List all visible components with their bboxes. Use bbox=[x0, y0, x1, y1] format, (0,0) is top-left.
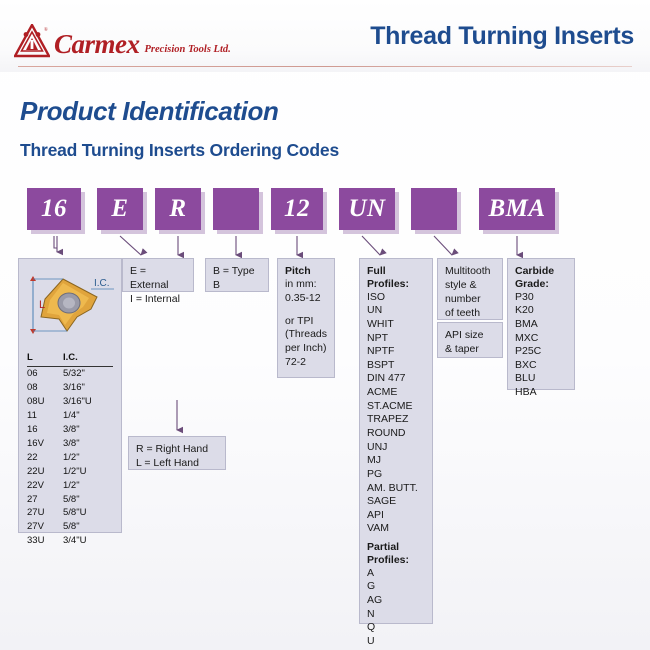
cell-ic: 1/2" bbox=[63, 479, 113, 493]
partial-profiles-title-1: Partial bbox=[367, 541, 425, 554]
direction-line-2: L = Left Hand bbox=[136, 457, 218, 471]
list-item: BSPT bbox=[367, 359, 425, 373]
table-row: 16V3/8" bbox=[27, 437, 115, 451]
list-item: ROUND bbox=[367, 427, 425, 441]
cell-l: 22 bbox=[27, 451, 63, 465]
panel-profiles: Full Profiles: ISOUNWHITNPTNPTFBSPTDIN 4… bbox=[359, 258, 433, 624]
table-row: 111/4" bbox=[27, 409, 115, 423]
list-item: TRAPEZ bbox=[367, 413, 425, 427]
list-item: MJ bbox=[367, 454, 425, 468]
list-item: A bbox=[367, 567, 425, 581]
list-item: NPTF bbox=[367, 345, 425, 359]
pitch-line-1: in mm: bbox=[285, 278, 327, 292]
full-profiles-title-2: Profiles: bbox=[367, 278, 425, 291]
cell-l: 11 bbox=[27, 409, 63, 423]
list-item: ISO bbox=[367, 291, 425, 305]
code-box-type[interactable] bbox=[213, 188, 259, 230]
col-header-l: L bbox=[27, 351, 63, 367]
cell-l: 16V bbox=[27, 437, 63, 451]
multitooth-line-1: Multitooth bbox=[445, 265, 495, 279]
cell-l: 27 bbox=[27, 493, 63, 507]
cell-ic: 3/8" bbox=[63, 437, 113, 451]
list-item: PG bbox=[367, 468, 425, 482]
multitooth-line-3: number bbox=[445, 293, 495, 307]
table-row: 33U3/4"U bbox=[27, 534, 115, 548]
page-header: ® Carmex Precision Tools Ltd. Thread Tur… bbox=[0, 0, 650, 72]
brand-logo: ® Carmex Precision Tools Ltd. bbox=[14, 24, 231, 58]
code-box-direction[interactable]: R bbox=[155, 188, 201, 230]
table-row: 27V5/8" bbox=[27, 520, 115, 534]
carbide-title-1: Carbide bbox=[515, 265, 567, 278]
list-item: BLU bbox=[515, 372, 567, 386]
list-item: ST.ACME bbox=[367, 400, 425, 414]
cell-ic: 3/8" bbox=[63, 423, 113, 437]
panel-multitooth: Multitooth style & number of teeth bbox=[437, 258, 503, 320]
cell-ic: 3/4"U bbox=[63, 534, 113, 548]
list-item: WHIT bbox=[367, 318, 425, 332]
table-row: 22V1/2" bbox=[27, 479, 115, 493]
type-b-line: B = Type B bbox=[213, 265, 261, 293]
list-item: DIN 477 bbox=[367, 372, 425, 386]
carbide-grade-list: P30K20BMAMXCP25CBXCBLUHBA bbox=[515, 291, 567, 400]
cell-ic: 5/8"U bbox=[63, 506, 113, 520]
page-title: Product Identification bbox=[20, 96, 278, 127]
col-header-ic: I.C. bbox=[63, 351, 113, 367]
brand-name: Carmex bbox=[54, 31, 140, 58]
panel-carbide-grade: Carbide Grade: P30K20BMAMXCP25CBXCBLUHBA bbox=[507, 258, 575, 390]
api-line-1: API size bbox=[445, 329, 495, 343]
insert-dimension-panel: L I.C. L I.C. 065/32"083/16"08U3/16"U111… bbox=[18, 258, 122, 533]
api-line-2: & taper bbox=[445, 343, 495, 357]
list-item: HBA bbox=[515, 386, 567, 400]
cell-l: 16 bbox=[27, 423, 63, 437]
hand-type-line-2: I = Internal bbox=[130, 293, 186, 307]
header-divider bbox=[18, 66, 632, 67]
hand-type-line-1: E = External bbox=[130, 265, 186, 293]
pitch-line-5: (Threads bbox=[285, 328, 327, 342]
table-row: 22U1/2"U bbox=[27, 465, 115, 479]
multitooth-line-4: of teeth bbox=[445, 307, 495, 321]
direction-line-1: R = Right Hand bbox=[136, 443, 218, 457]
list-item: BXC bbox=[515, 359, 567, 373]
list-item: UN bbox=[367, 304, 425, 318]
list-item: K20 bbox=[515, 304, 567, 318]
full-profiles-title-1: Full bbox=[367, 265, 425, 278]
list-item: U bbox=[367, 635, 425, 649]
carmex-triangle-logo-icon: ® bbox=[14, 24, 50, 58]
document-page: ® Carmex Precision Tools Ltd. Thread Tur… bbox=[0, 0, 650, 650]
cell-l: 22V bbox=[27, 479, 63, 493]
dimension-rows: 065/32"083/16"08U3/16"U111/4"163/8"16V3/… bbox=[27, 367, 115, 548]
partial-profiles-list: AGAGNQU bbox=[367, 567, 425, 649]
cell-ic: 1/2"U bbox=[63, 465, 113, 479]
list-item: NPT bbox=[367, 332, 425, 346]
table-header-row: L I.C. bbox=[27, 351, 115, 367]
cell-ic: 3/16"U bbox=[63, 395, 113, 409]
list-item: AM. BUTT. bbox=[367, 482, 425, 496]
list-item: BMA bbox=[515, 318, 567, 332]
svg-text:I.C.: I.C. bbox=[94, 278, 110, 289]
triangular-insert-diagram-icon: L I.C. bbox=[19, 259, 121, 351]
cell-l: 27U bbox=[27, 506, 63, 520]
list-item: Q bbox=[367, 621, 425, 635]
cell-ic: 5/8" bbox=[63, 520, 113, 534]
list-item: AG bbox=[367, 594, 425, 608]
cell-l: 06 bbox=[27, 367, 63, 381]
pitch-line-7: 72-2 bbox=[285, 356, 327, 370]
cell-l: 08 bbox=[27, 381, 63, 395]
list-item: VAM bbox=[367, 522, 425, 536]
cell-l: 08U bbox=[27, 395, 63, 409]
cell-ic: 5/8" bbox=[63, 493, 113, 507]
svg-text:®: ® bbox=[44, 27, 48, 33]
header-title: Thread Turning Inserts bbox=[370, 22, 634, 51]
table-row: 221/2" bbox=[27, 451, 115, 465]
full-profiles-list: ISOUNWHITNPTNPTFBSPTDIN 477ACMEST.ACMETR… bbox=[367, 291, 425, 537]
carbide-title-2: Grade: bbox=[515, 278, 567, 291]
panel-type-b: B = Type B bbox=[205, 258, 269, 292]
code-box-multitooth[interactable] bbox=[411, 188, 457, 230]
cell-ic: 3/16" bbox=[63, 381, 113, 395]
pitch-line-2: 0.35-12 bbox=[285, 292, 327, 306]
panel-direction: R = Right Hand L = Left Hand bbox=[128, 436, 226, 470]
pitch-title: Pitch bbox=[285, 265, 327, 278]
brand-tagline: Precision Tools Ltd. bbox=[145, 45, 231, 56]
table-row: 275/8" bbox=[27, 493, 115, 507]
page-subtitle: Thread Turning Inserts Ordering Codes bbox=[20, 140, 339, 161]
svg-text:L: L bbox=[39, 299, 45, 311]
list-item: ACME bbox=[367, 386, 425, 400]
partial-profiles-title-2: Profiles: bbox=[367, 554, 425, 567]
table-row: 08U3/16"U bbox=[27, 395, 115, 409]
cell-l: 22U bbox=[27, 465, 63, 479]
dimension-table: L I.C. 065/32"083/16"08U3/16"U111/4"163/… bbox=[27, 351, 115, 548]
list-item: SAGE bbox=[367, 495, 425, 509]
pitch-line-6: per Inch) bbox=[285, 342, 327, 356]
code-box-hand-type[interactable]: E bbox=[97, 188, 143, 230]
list-item: N bbox=[367, 608, 425, 622]
code-box-grade[interactable]: BMA bbox=[479, 188, 555, 230]
multitooth-line-2: style & bbox=[445, 279, 495, 293]
list-item: UNJ bbox=[367, 441, 425, 455]
table-row: 163/8" bbox=[27, 423, 115, 437]
list-item: G bbox=[367, 580, 425, 594]
cell-l: 33U bbox=[27, 534, 63, 548]
list-item: P25C bbox=[515, 345, 567, 359]
cell-ic: 1/4" bbox=[63, 409, 113, 423]
panel-api-size: API size & taper bbox=[437, 322, 503, 358]
cell-ic: 5/32" bbox=[63, 367, 113, 381]
code-box-profile[interactable]: UN bbox=[339, 188, 395, 230]
table-row: 065/32" bbox=[27, 367, 115, 381]
cell-l: 27V bbox=[27, 520, 63, 534]
table-row: 083/16" bbox=[27, 381, 115, 395]
code-box-ic[interactable]: 16 bbox=[27, 188, 81, 230]
code-box-pitch[interactable]: 12 bbox=[271, 188, 323, 230]
panel-pitch: Pitch in mm: 0.35-12 or TPI (Threads per… bbox=[277, 258, 335, 378]
pitch-line-4: or TPI bbox=[285, 315, 327, 329]
list-item: P30 bbox=[515, 291, 567, 305]
list-item: MXC bbox=[515, 332, 567, 346]
table-row: 27U5/8"U bbox=[27, 506, 115, 520]
panel-hand-type: E = External I = Internal bbox=[122, 258, 194, 292]
list-item: API bbox=[367, 509, 425, 523]
cell-ic: 1/2" bbox=[63, 451, 113, 465]
